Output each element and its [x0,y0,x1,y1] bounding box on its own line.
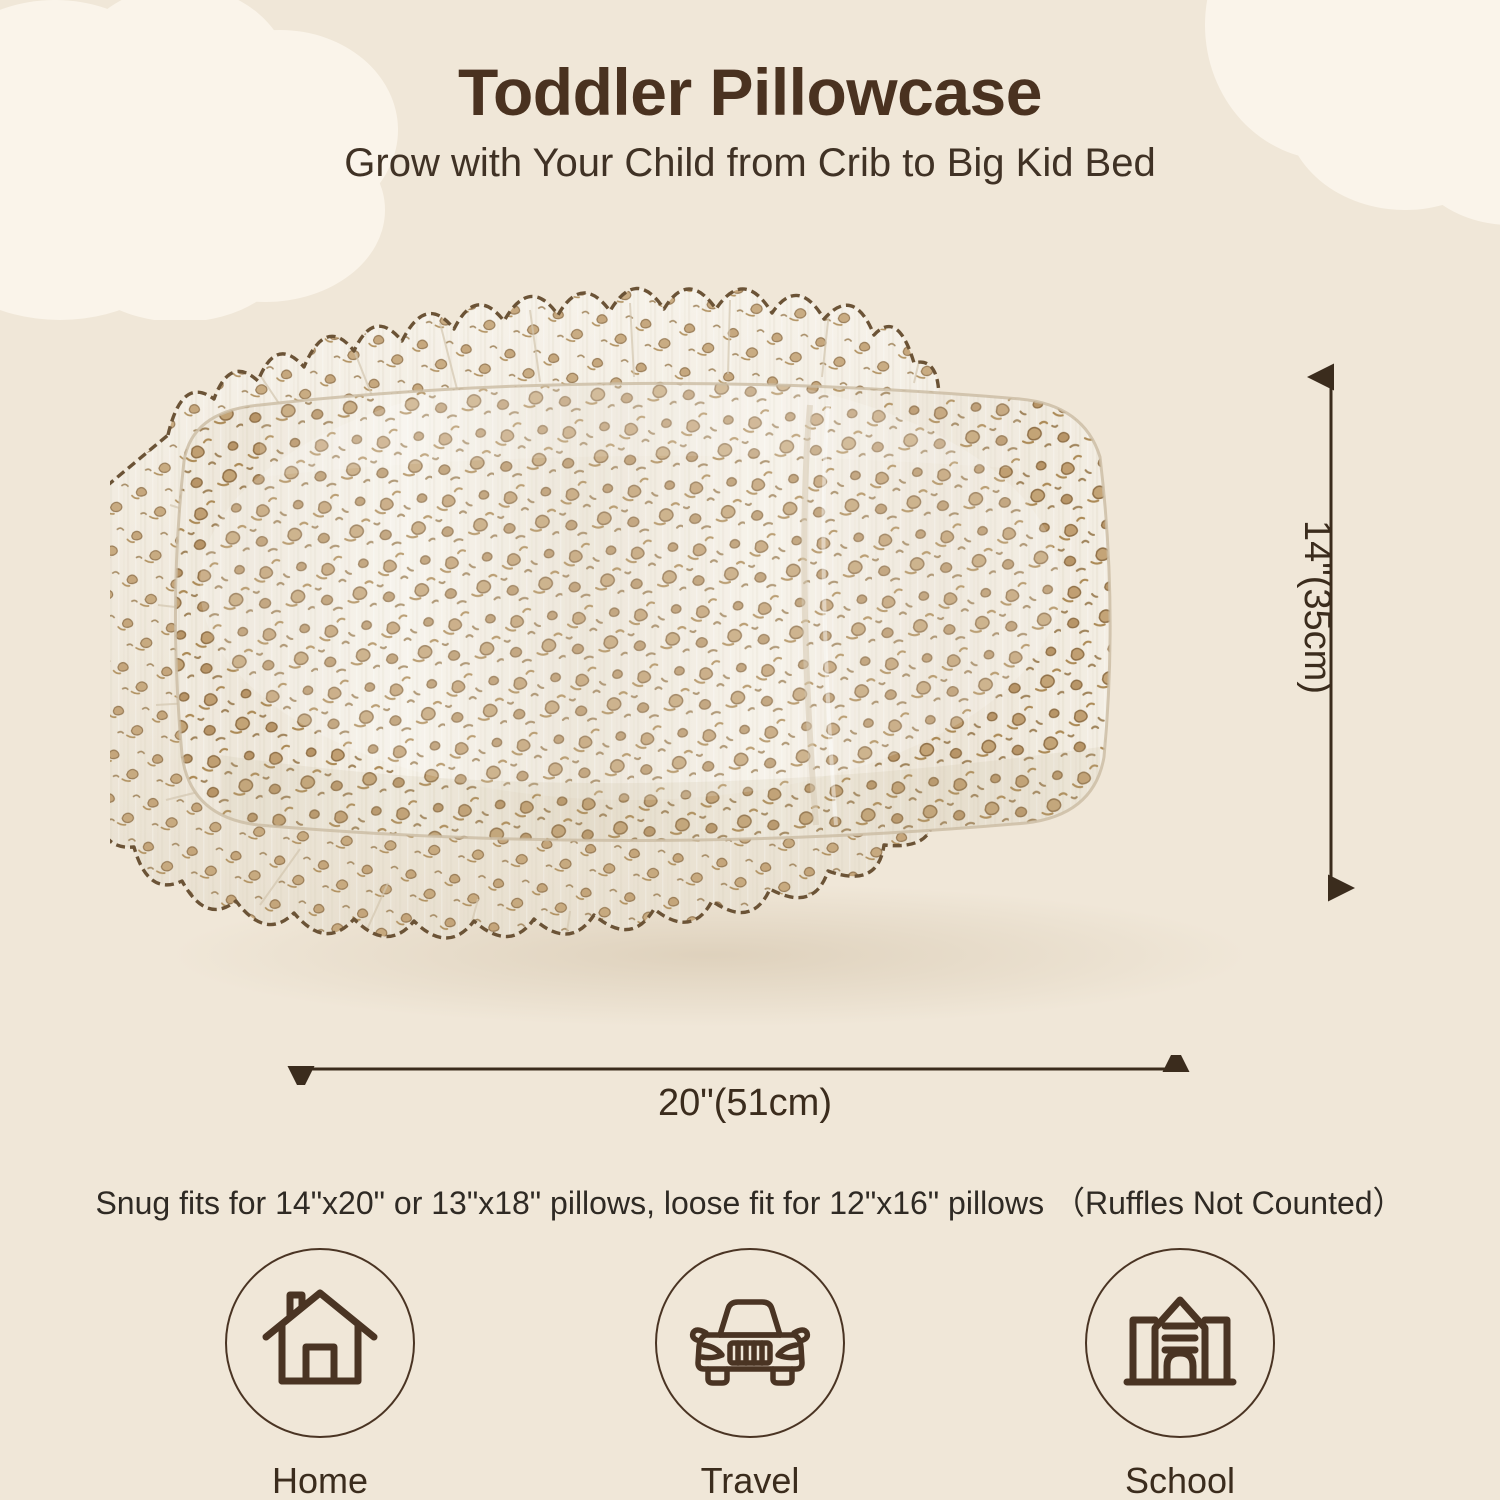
width-dimension-value: 20"(51cm) [658,1082,832,1125]
width-dimension-label: 20"(51cm) [0,1082,1500,1125]
use-case-row: Home [0,1248,1500,1500]
use-case-label-school: School [1125,1460,1235,1500]
page-title: Toddler Pillowcase [0,58,1500,127]
page-subtitle: Grow with Your Child from Crib to Big Ki… [0,141,1500,185]
use-case-school: School [965,1248,1395,1500]
use-case-circle-travel [655,1248,845,1438]
school-icon [1121,1286,1239,1401]
use-case-travel: Travel [535,1248,965,1500]
header-block: Toddler Pillowcase Grow with Your Child … [0,58,1500,185]
product-photo [110,255,1295,1030]
use-case-label-travel: Travel [701,1460,800,1500]
car-icon [686,1289,814,1398]
infographic-canvas: Toddler Pillowcase Grow with Your Child … [0,0,1500,1500]
use-case-home: Home [105,1248,535,1500]
use-case-label-home: Home [272,1460,368,1500]
fit-note: Snug fits for 14"x20" or 13"x18" pillows… [0,1178,1500,1224]
use-case-circle-school [1085,1248,1275,1438]
use-case-circle-home [225,1248,415,1438]
height-dimension-label: 14"(35cm) [1295,520,1338,694]
house-icon [260,1285,380,1402]
